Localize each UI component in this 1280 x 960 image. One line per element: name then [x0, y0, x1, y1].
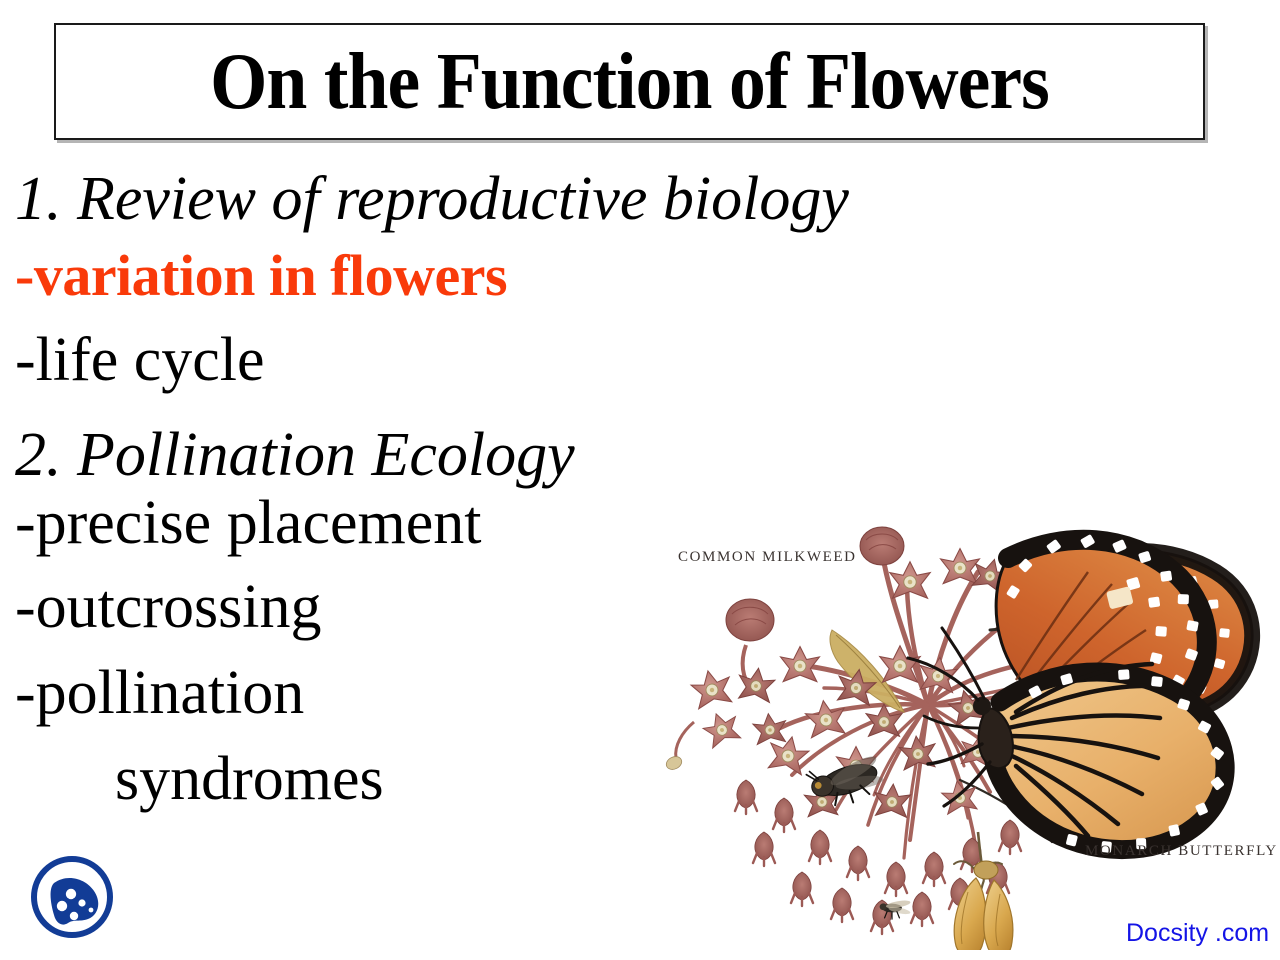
outline-bullet-pollination: -pollination	[15, 662, 304, 724]
docsity-logo	[24, 849, 120, 945]
outline-bullet-syndromes: syndromes	[115, 748, 384, 810]
docsity-watermark: Docsity .com	[1126, 919, 1269, 948]
illustration-label-monarch-butterfly: MONARCH BUTTERFLY	[1085, 843, 1278, 860]
illustration-label-common-milkweed: COMMON MILKWEED	[678, 549, 857, 566]
outline-bullet-life-cycle: -life cycle	[15, 329, 265, 391]
outline-heading-review: 1. Review of reproductive biology	[15, 168, 849, 230]
outline-bullet-precise-placement: -precise placement	[15, 492, 481, 554]
outline-bullet-outcrossing: -outcrossing	[15, 576, 322, 638]
outline-bullet-variation-in-flowers: -variation in flowers	[15, 247, 507, 305]
title-box: On the Function of Flowers	[54, 23, 1205, 140]
milkweed-florets-left	[664, 599, 788, 772]
page-title: On the Function of Flowers	[102, 42, 1157, 122]
outline-heading-pollination-ecology: 2. Pollination Ecology	[15, 424, 575, 486]
